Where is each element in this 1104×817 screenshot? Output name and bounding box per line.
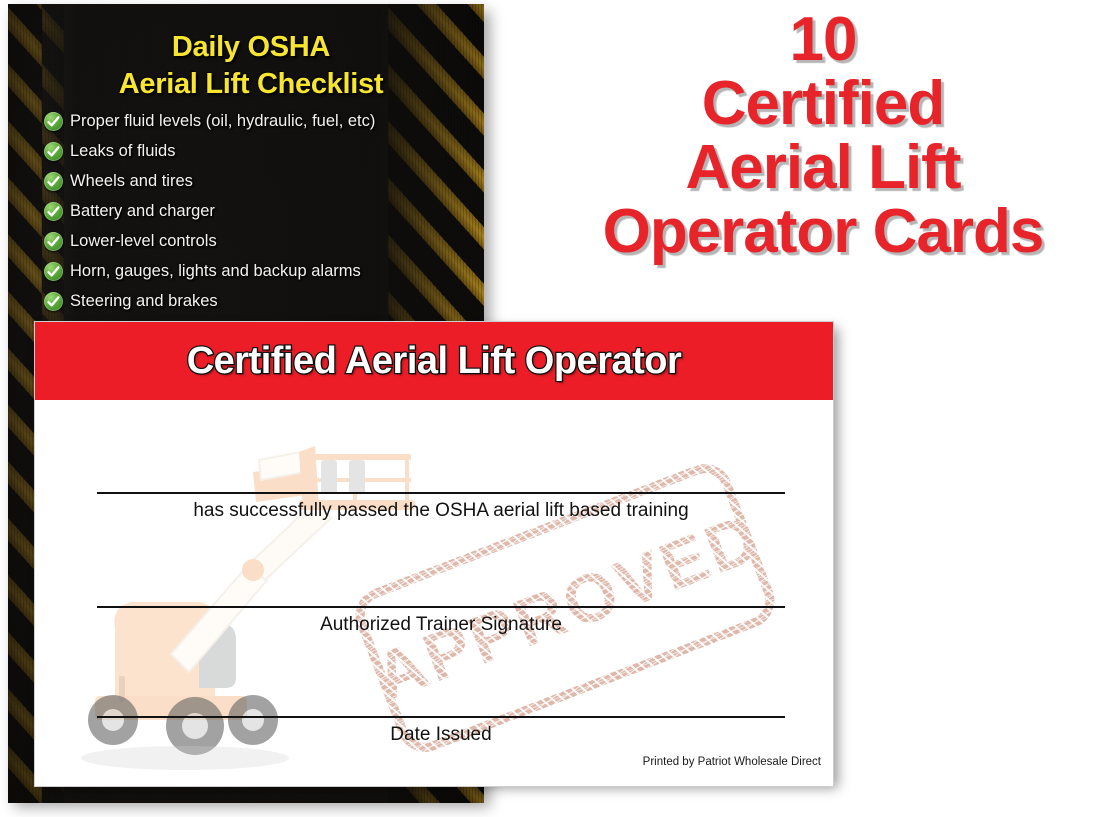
- headline-line-quantity: 10: [545, 8, 1101, 72]
- list-item-label: Wheels and tires: [70, 172, 193, 191]
- certificate-footer: Printed by Patriot Wholesale Direct: [643, 756, 821, 768]
- list-item-label: Lower-level controls: [70, 232, 217, 251]
- checklist-items: Proper fluid levels (oil, hydraulic, fue…: [44, 106, 404, 346]
- list-item: Proper fluid levels (oil, hydraulic, fue…: [44, 106, 404, 136]
- name-line: [97, 492, 785, 494]
- certificate-title: Certified Aerial Lift Operator: [187, 340, 682, 383]
- list-item-label: Battery and charger: [70, 202, 215, 221]
- product-image-canvas: Daily OSHA Aerial Lift Checklist Proper …: [0, 0, 1104, 817]
- list-item: Lower-level controls: [44, 226, 404, 256]
- green-check-circle-icon: [44, 262, 63, 281]
- operator-certificate-card: Certified Aerial Lift Operator: [34, 321, 834, 787]
- product-headline: 10 Certified Aerial Lift Operator Cards: [545, 8, 1101, 263]
- certificate-banner: Certified Aerial Lift Operator: [35, 322, 833, 400]
- name-caption: has successfully passed the OSHA aerial …: [97, 500, 785, 522]
- green-check-circle-icon: [44, 142, 63, 161]
- date-issued-caption: Date Issued: [97, 724, 785, 746]
- list-item: Wheels and tires: [44, 166, 404, 196]
- list-item: Leaks of fluids: [44, 136, 404, 166]
- poster-title-line-2: Aerial Lift Checklist: [36, 68, 466, 101]
- green-check-circle-icon: [44, 292, 63, 311]
- headline-line-3: Aerial Lift: [545, 136, 1101, 200]
- list-item-label: Leaks of fluids: [70, 142, 175, 161]
- green-check-circle-icon: [44, 232, 63, 251]
- poster-title-line-1: Daily OSHA: [36, 31, 466, 64]
- list-item-label: Horn, gauges, lights and backup alarms: [70, 262, 361, 281]
- list-item-label: Steering and brakes: [70, 292, 218, 311]
- certificate-body: APPROVED has successfully passed the OSH…: [35, 400, 833, 786]
- date-issued-line: [97, 716, 785, 718]
- headline-line-4: Operator Cards: [545, 200, 1101, 264]
- green-check-circle-icon: [44, 202, 63, 221]
- green-check-circle-icon: [44, 112, 63, 131]
- headline-line-2: Certified: [545, 72, 1101, 136]
- trainer-signature-caption: Authorized Trainer Signature: [97, 614, 785, 636]
- list-item: Horn, gauges, lights and backup alarms: [44, 256, 404, 286]
- list-item: Steering and brakes: [44, 286, 404, 316]
- list-item-label: Proper fluid levels (oil, hydraulic, fue…: [70, 112, 375, 131]
- trainer-signature-line: [97, 606, 785, 608]
- green-check-circle-icon: [44, 172, 63, 191]
- list-item: Battery and charger: [44, 196, 404, 226]
